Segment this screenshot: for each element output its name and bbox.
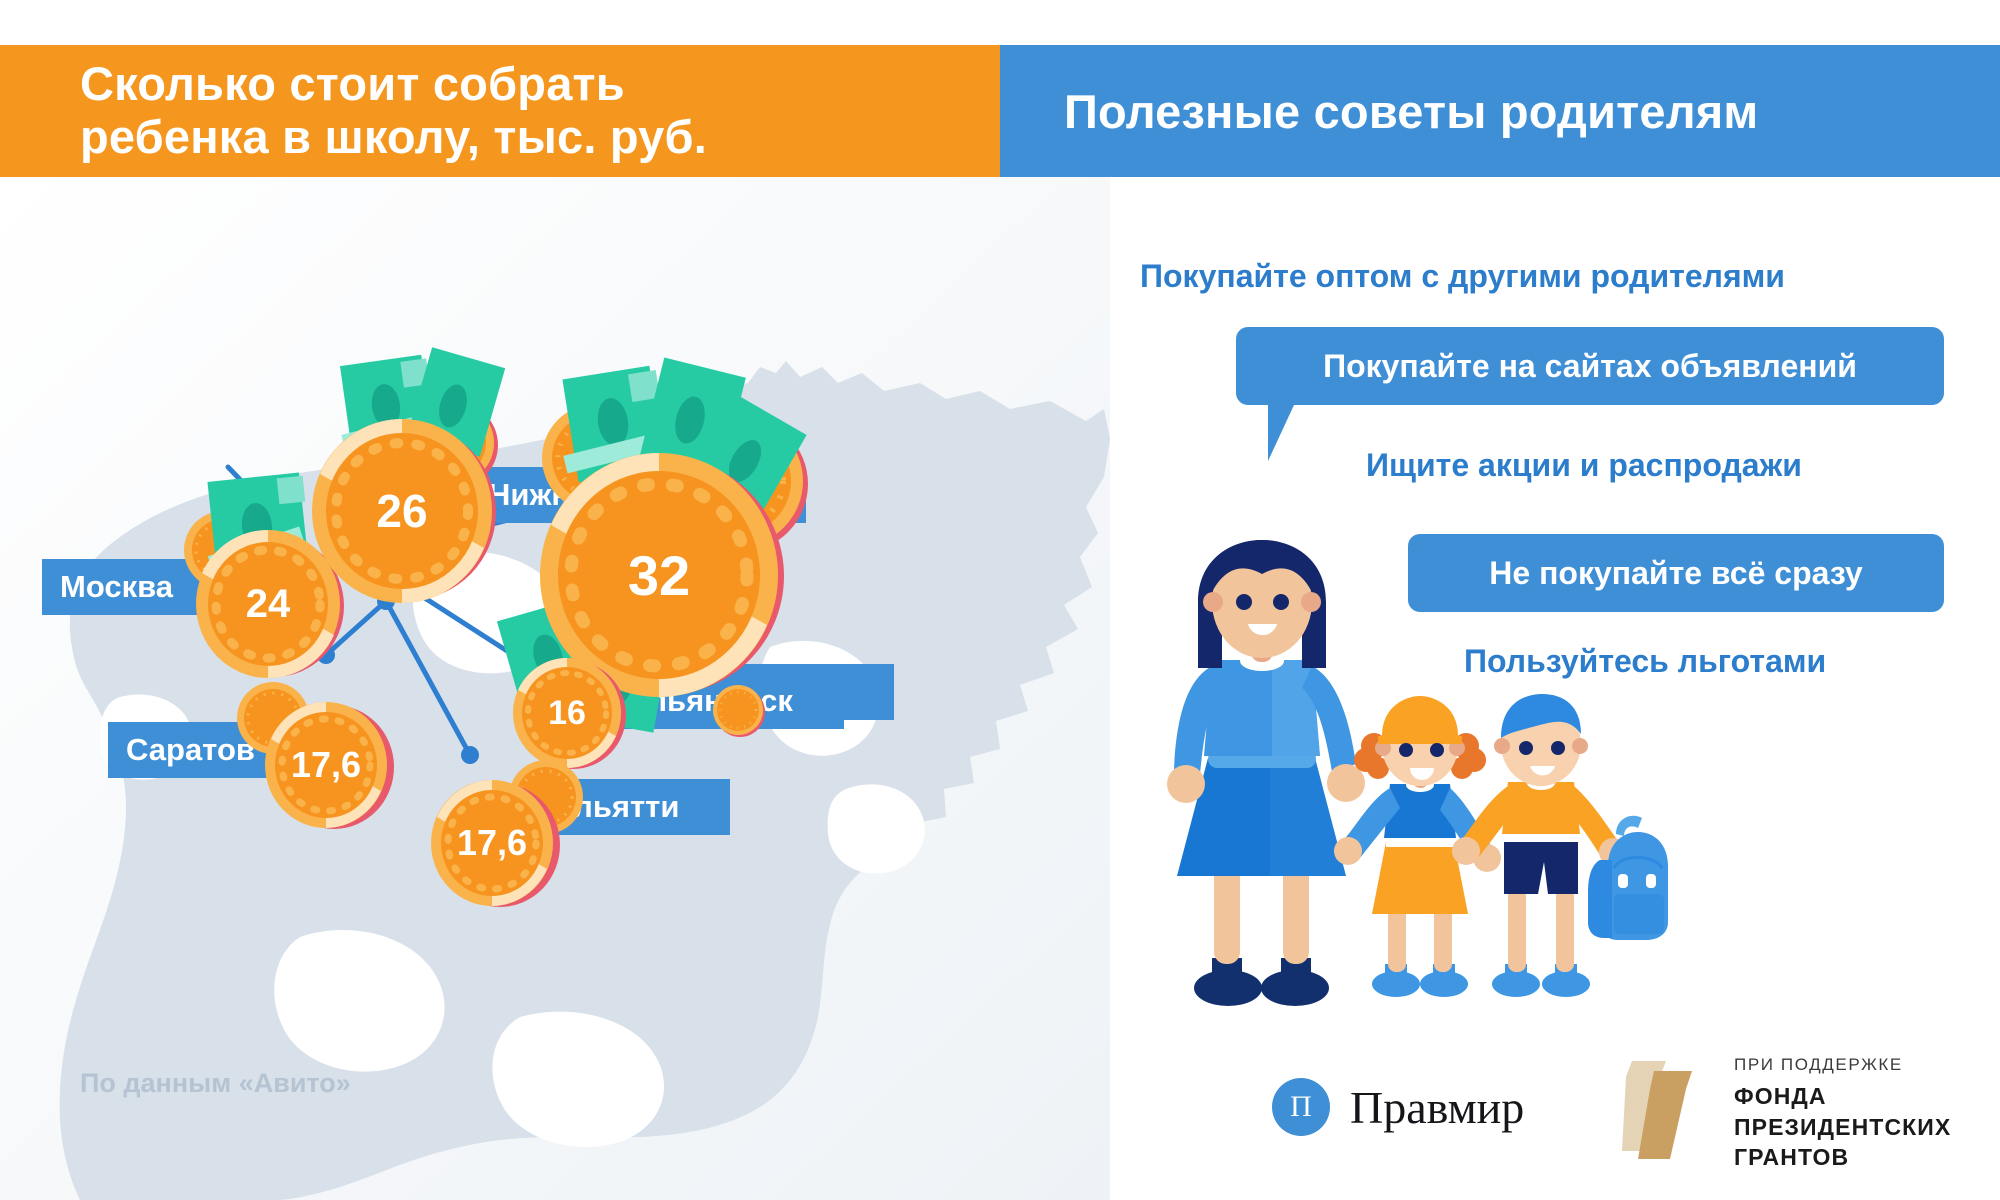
grant-support-label: ПРИ ПОДДЕРЖКЕ [1734, 1055, 1951, 1075]
pravmir-wordmark: Правмир [1350, 1081, 1524, 1134]
coin-kazan-small-extra [712, 684, 766, 738]
pravmir-mark-icon: П [1272, 1078, 1330, 1136]
grant-text-block: ПРИ ПОДДЕРЖКЕ ФОНДА ПРЕЗИДЕНТСКИХ ГРАНТО… [1734, 1055, 1951, 1173]
map-panel: Москва Нижний Новгород Казань Ульяновск … [0, 177, 1110, 1200]
page-title: Сколько стоит собрать ребенка в школу, т… [0, 58, 707, 163]
tip-item-3: Ищите акции и распродажи [1366, 447, 1802, 484]
coin-tolyatti: 17,6 [420, 743, 610, 933]
page-title-line2: ребенка в школу, тыс. руб. [80, 111, 707, 164]
pravmir-mark-letter: П [1290, 1090, 1312, 1124]
tips-section-title: Полезные советы родителям [1000, 84, 1758, 139]
presidential-grants-logo[interactable]: ПРИ ПОДДЕРЖКЕ ФОНДА ПРЕЗИДЕНТСКИХ ГРАНТО… [1620, 1055, 1951, 1173]
grant-name-line2: ПРЕЗИДЕНТСКИХ [1734, 1112, 1951, 1143]
tip-item-1: Покупайте оптом с другими родителями [1140, 258, 1785, 295]
coin-saratov: 17,6 [236, 677, 416, 857]
source-note: По данным «Авито» [80, 1068, 351, 1099]
tip-item-2: Покупайте на сайтах объявлений [1236, 327, 1944, 405]
city-label-moscow-text: Москва [60, 569, 173, 605]
page-title-line1: Сколько стоит собрать [80, 58, 707, 111]
coin-saratov-value: 17,6 [264, 701, 388, 829]
coin-tolyatti-value: 17,6 [430, 779, 554, 907]
grant-ribbon-icon [1620, 1055, 1710, 1165]
pravmir-logo[interactable]: П Правмир [1272, 1078, 1524, 1136]
grant-name-line1: ФОНДА [1734, 1081, 1951, 1112]
coin-nnovgorod-value: 26 [310, 418, 494, 604]
infographic-root: Сколько стоит собрать ребенка в школу, т… [0, 0, 2000, 1200]
boy-figure [1452, 694, 1627, 997]
tip-item-2-tail [1268, 405, 1294, 461]
mother-figure [1167, 540, 1365, 1006]
grant-name-line3: ГРАНТОВ [1734, 1142, 1951, 1173]
family-illustration [1150, 540, 1670, 1010]
header-left-banner: Сколько стоит собрать ребенка в школу, т… [0, 45, 1000, 177]
header-right-banner: Полезные советы родителям [1000, 45, 2000, 177]
